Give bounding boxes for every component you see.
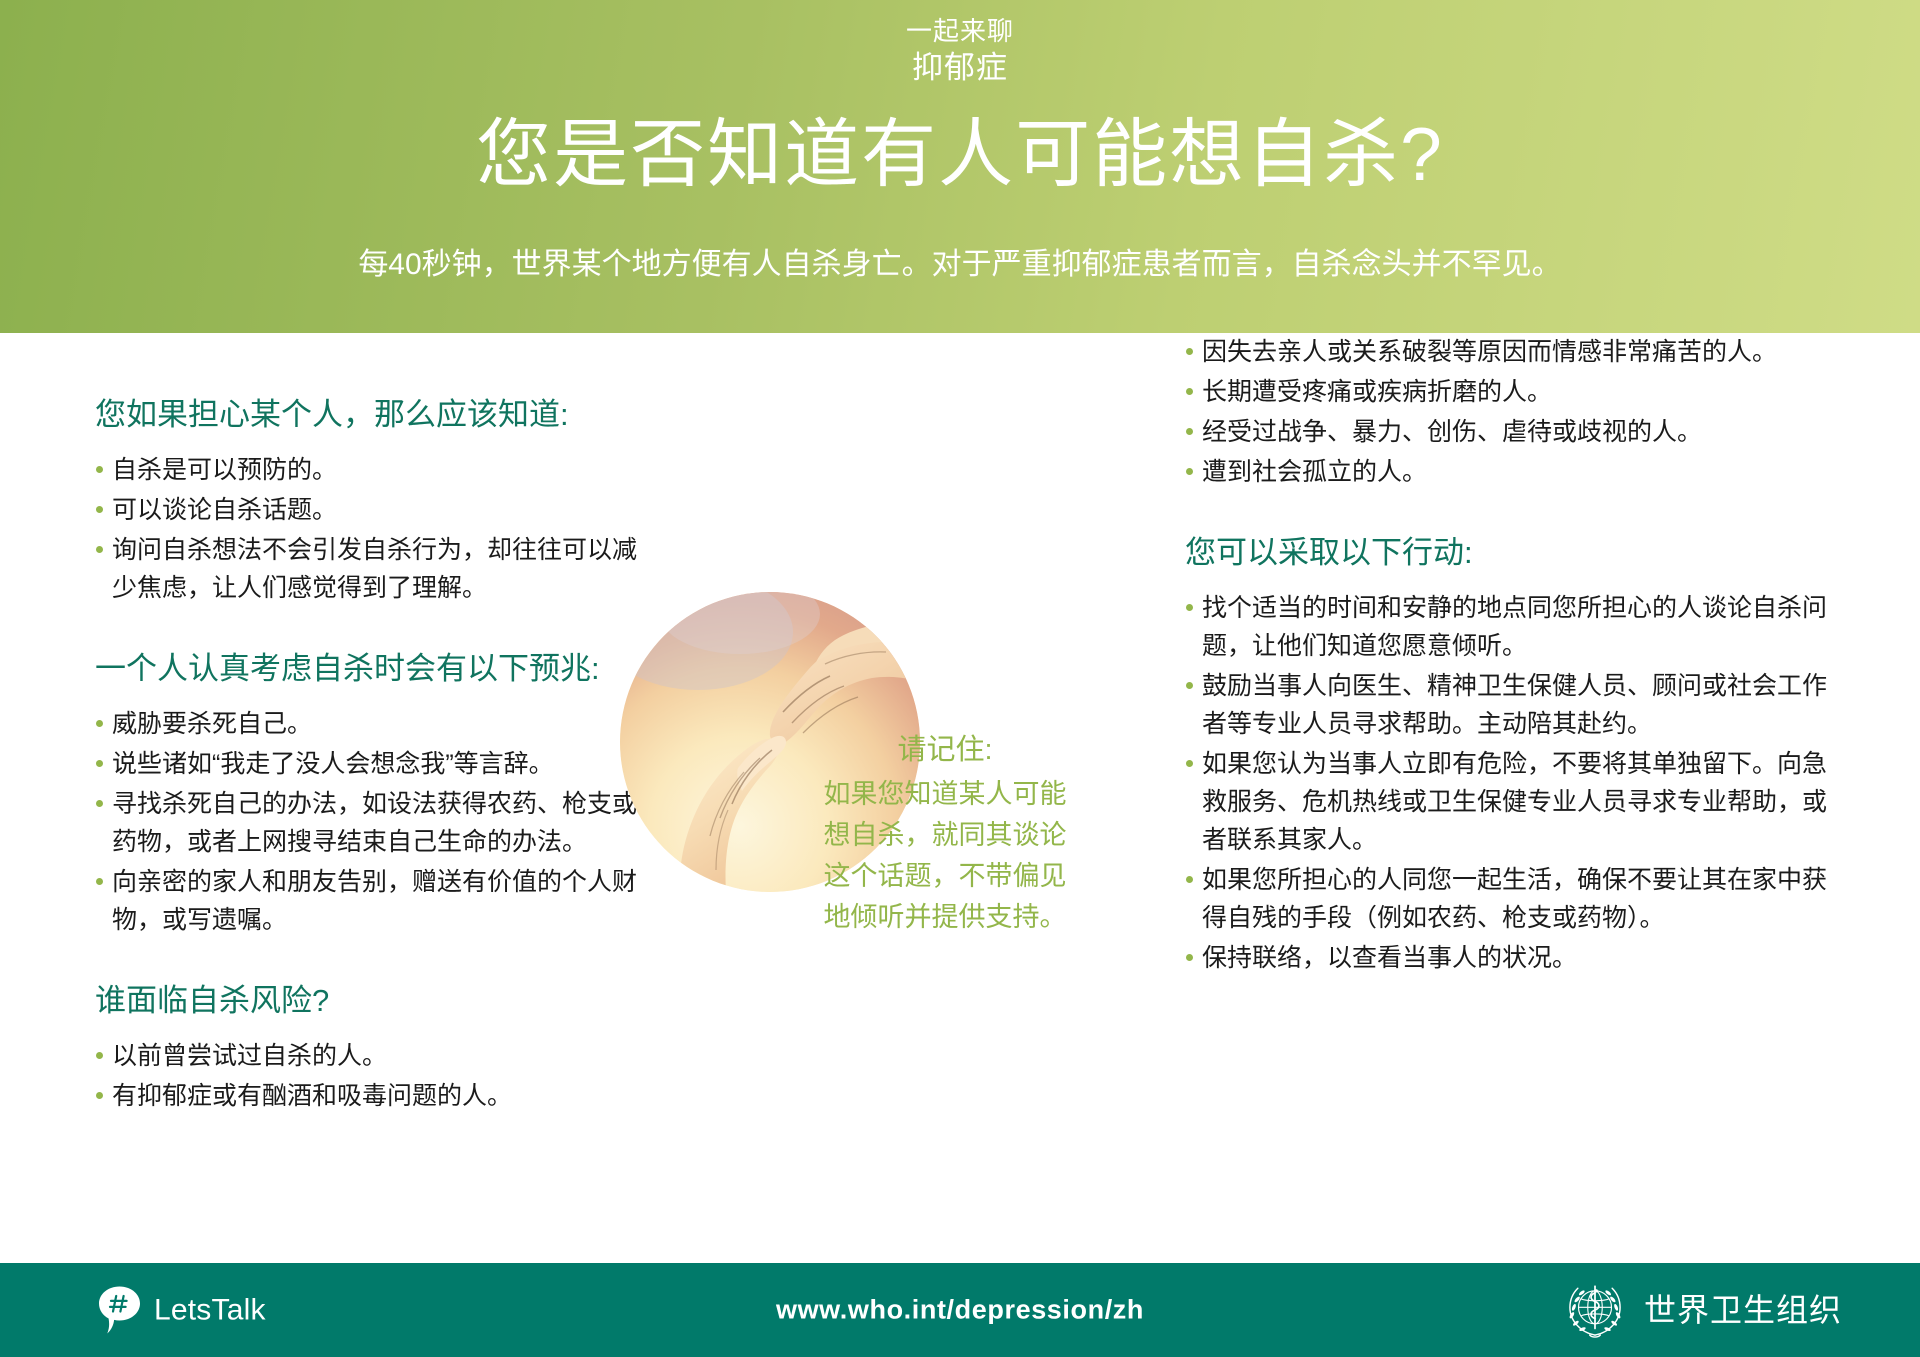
list-item: 保持联络，以查看当事人的状况。 <box>1185 939 1830 977</box>
list-item: 威胁要杀死自己。 <box>95 705 660 743</box>
list-item: 自杀是可以预防的。 <box>95 451 660 489</box>
list-item: 鼓励当事人向医生、精神卫生保健人员、顾问或社会工作者等专业人员寻求帮助。主动陪其… <box>1185 667 1830 743</box>
list-item: 因失去亲人或关系破裂等原因而情感非常痛苦的人。 <box>1185 333 1830 371</box>
who-organization-name: 世界卫生组织 <box>1644 1292 1842 1328</box>
list-item: 以前曾尝试过自杀的人。 <box>95 1037 660 1075</box>
campaign-brand: 一起来聊 抑郁症 <box>0 14 1920 88</box>
section-heading-concerned: 您如果担心某个人，那么应该知道: <box>95 395 660 435</box>
footer-bar: LetsTalk www.who.int/depression/zh <box>0 1263 1920 1357</box>
remember-line: 这个话题，不带偏见 <box>790 856 1100 897</box>
bullet-list-concerned: 自杀是可以预防的。 可以谈论自杀话题。 询问自杀想法不会引发自杀行为，却往往可以… <box>95 451 660 607</box>
remember-note: 请记住: 如果您知道某人可能 想自杀，就同其谈论 这个话题，不带偏见 地倾听并提… <box>790 728 1100 938</box>
poster-root: 一起来聊 抑郁症 您是否知道有人可能想自杀? 每40秒钟，世界某个地方便有人自杀… <box>0 0 1920 1357</box>
list-item: 可以谈论自杀话题。 <box>95 491 660 529</box>
campaign-brand-line1: 一起来聊 <box>906 16 1014 46</box>
remember-line: 想自杀，就同其谈论 <box>790 815 1100 856</box>
list-item: 说些诸如“我走了没人会想念我”等言辞。 <box>95 745 660 783</box>
section-heading-warning-signs: 一个人认真考虑自杀时会有以下预兆: <box>95 649 660 689</box>
list-item: 如果您认为当事人立即有危险，不要将其单独留下。向急救服务、危机热线或卫生保健专业… <box>1185 745 1830 859</box>
bullet-list-at-risk: 以前曾尝试过自杀的人。 有抑郁症或有酗酒和吸毒问题的人。 <box>95 1037 660 1115</box>
list-item: 有抑郁症或有酗酒和吸毒问题的人。 <box>95 1077 660 1115</box>
page-subtitle: 每40秒钟，世界某个地方便有人自杀身亡。对于严重抑郁症患者而言，自杀念头并不罕见… <box>0 245 1920 285</box>
bullet-list-warning-signs: 威胁要杀死自己。 说些诸如“我走了没人会想念我”等言辞。 寻找杀死自己的办法，如… <box>95 705 660 939</box>
list-item: 向亲密的家人和朋友告别，赠送有价值的个人财物，或写遗嘱。 <box>95 863 660 939</box>
remember-line: 如果您知道某人可能 <box>790 774 1100 815</box>
section-heading-at-risk: 谁面临自杀风险? <box>95 981 660 1021</box>
bullet-list-risk-groups: 因失去亲人或关系破裂等原因而情感非常痛苦的人。 长期遭受疼痛或疾病折磨的人。 经… <box>1185 333 1830 491</box>
list-item: 寻找杀死自己的办法，如设法获得农药、枪支或药物，或者上网搜寻结束自己生命的办法。 <box>95 785 660 861</box>
campaign-brand-line2: 抑郁症 <box>0 48 1920 88</box>
list-item: 找个适当的时间和安静的地点同您所担心的人谈论自杀问题，让他们知道您愿意倾听。 <box>1185 589 1830 665</box>
list-item: 遭到社会孤立的人。 <box>1185 453 1830 491</box>
content-area: 您如果担心某个人，那么应该知道: 自杀是可以预防的。 可以谈论自杀话题。 询问自… <box>0 333 1920 1263</box>
remember-note-title: 请记住: <box>790 728 1100 772</box>
list-item: 长期遭受疼痛或疾病折磨的人。 <box>1185 373 1830 411</box>
section-heading-actions: 您可以采取以下行动: <box>1185 533 1830 573</box>
who-branding: 世界卫生组织 <box>1562 1277 1842 1343</box>
list-item: 询问自杀想法不会引发自杀行为，却往往可以减少焦虑，让人们感觉得到了理解。 <box>95 531 660 607</box>
page-title: 您是否知道有人可能想自杀? <box>0 113 1920 195</box>
who-emblem-icon <box>1562 1277 1628 1343</box>
remember-note-body: 如果您知道某人可能 想自杀，就同其谈论 这个话题，不带偏见 地倾听并提供支持。 <box>790 774 1100 938</box>
list-item: 经受过战争、暴力、创伤、虐待或歧视的人。 <box>1185 413 1830 451</box>
list-item: 如果您所担心的人同您一起生活，确保不要让其在家中获得自残的手段（例如农药、枪支或… <box>1185 861 1830 937</box>
bullet-list-actions: 找个适当的时间和安静的地点同您所担心的人谈论自杀问题，让他们知道您愿意倾听。 鼓… <box>1185 589 1830 977</box>
remember-line: 地倾听并提供支持。 <box>790 897 1100 938</box>
header-banner: 一起来聊 抑郁症 您是否知道有人可能想自杀? 每40秒钟，世界某个地方便有人自杀… <box>0 0 1920 333</box>
left-column: 您如果担心某个人，那么应该知道: 自杀是可以预防的。 可以谈论自杀话题。 询问自… <box>95 395 660 1117</box>
right-column: 因失去亲人或关系破裂等原因而情感非常痛苦的人。 长期遭受疼痛或疾病折磨的人。 经… <box>1185 333 1830 979</box>
